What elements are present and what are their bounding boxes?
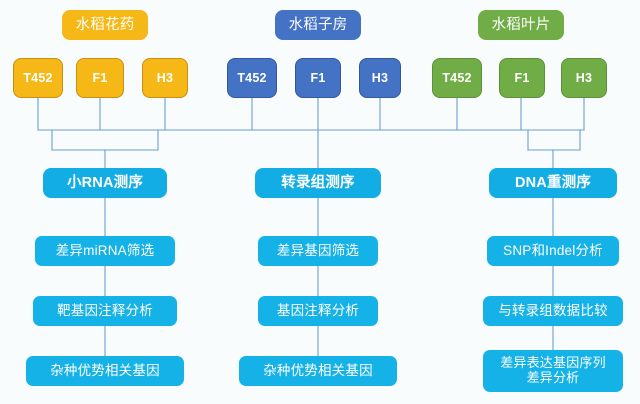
tissue-header-ovary[interactable]: 水稻子房 (275, 10, 361, 40)
step-small-rna-2[interactable]: 靶基因注释分析 (33, 296, 177, 326)
sample-leaf-h3[interactable]: H3 (561, 58, 607, 98)
step-small-rna-3[interactable]: 杂种优势相关基因 (26, 356, 184, 386)
platform-small-rna-seq[interactable]: 小RNA测序 (43, 168, 167, 198)
step-dna-reseq-2[interactable]: 与转录组数据比较 (483, 296, 623, 326)
sample-anther-f1[interactable]: F1 (76, 58, 124, 98)
tissue-header-leaf[interactable]: 水稻叶片 (478, 10, 564, 40)
sample-ovary-f1[interactable]: F1 (295, 58, 341, 98)
flowchart-canvas: 水稻花药 水稻子房 水稻叶片 T452 F1 H3 T452 F1 H3 T45… (0, 0, 640, 404)
platform-dna-resequencing[interactable]: DNA重测序 (489, 168, 617, 198)
sample-ovary-h3[interactable]: H3 (359, 58, 401, 98)
step-dna-reseq-3[interactable]: 差异表达基因序列 差异分析 (483, 350, 623, 392)
sample-leaf-t452[interactable]: T452 (432, 58, 482, 98)
sample-anther-t452[interactable]: T452 (13, 58, 63, 98)
step-transcriptome-1[interactable]: 差异基因筛选 (258, 236, 378, 266)
platform-transcriptome-seq[interactable]: 转录组测序 (255, 168, 381, 198)
sample-leaf-f1[interactable]: F1 (499, 58, 545, 98)
sample-ovary-t452[interactable]: T452 (227, 58, 277, 98)
step-transcriptome-2[interactable]: 基因注释分析 (258, 296, 378, 326)
step-dna-reseq-1[interactable]: SNP和Indel分析 (487, 236, 619, 266)
step-small-rna-1[interactable]: 差异miRNA筛选 (35, 236, 175, 266)
sample-anther-h3[interactable]: H3 (142, 58, 188, 98)
step-transcriptome-3[interactable]: 杂种优势相关基因 (239, 356, 397, 386)
tissue-header-anther[interactable]: 水稻花药 (62, 10, 148, 40)
